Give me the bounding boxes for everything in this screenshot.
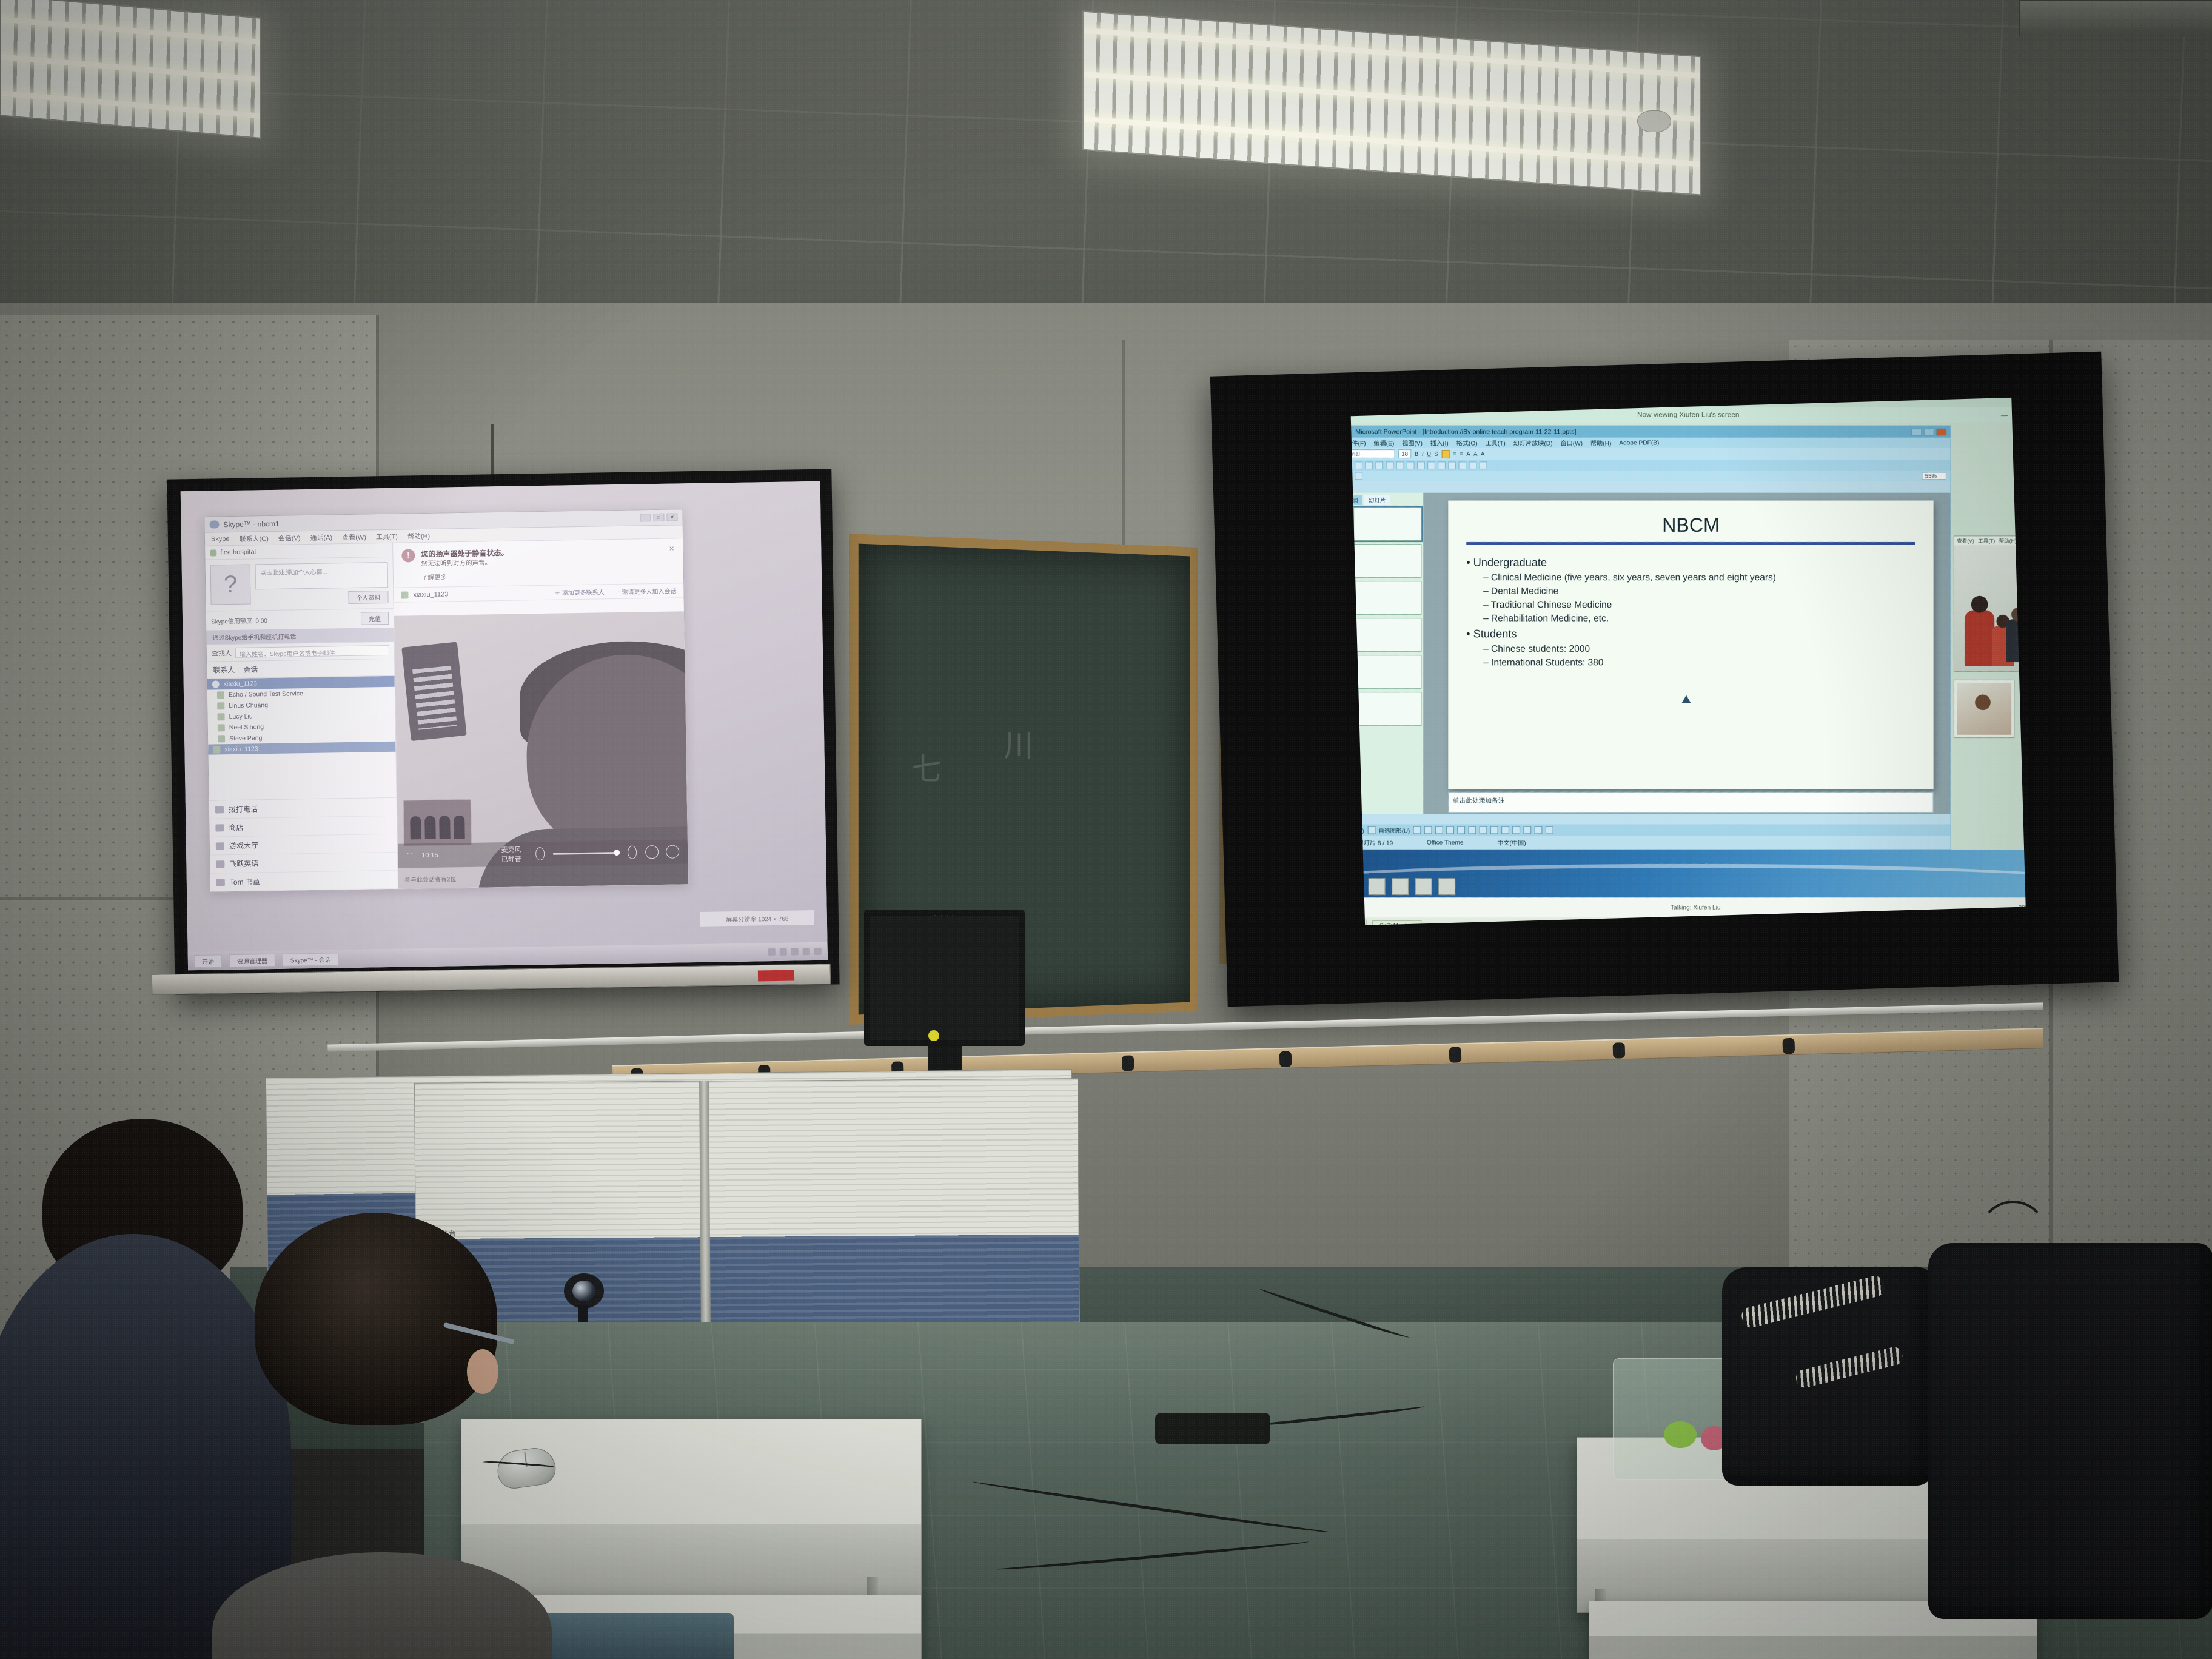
shadow-button[interactable]: S [1434,451,1438,457]
powerpoint-statusbar: 幻灯片 8 / 19 Office Theme 中文(中国) [1351,836,1951,849]
mood-area: 点击此处,添加个人心情... 个人资料 [255,562,389,605]
desktop-icon-media[interactable] [1438,878,1455,895]
rail-hook[interactable] [1782,1038,1795,1054]
spell-icon[interactable] [1396,461,1404,469]
skype-contact-list[interactable]: xiaxiu_1123 Echo / Sound Test Service Li… [207,676,397,800]
video-icon[interactable] [645,845,659,859]
endcall-icon[interactable] [666,845,679,858]
slide-bullet: Undergraduate [1466,557,1915,569]
garment-stripe [1740,1274,1886,1329]
garment-stripe [1794,1346,1905,1390]
menu-conversation[interactable]: 会话(V) [278,533,301,543]
call-control-bar[interactable]: ⌒ 10:15 麦克风已静音 [398,839,688,868]
tray-icon[interactable] [2007,922,2014,925]
slide-thumbnail[interactable]: 13 [1351,692,1422,726]
remote-video-feed-main[interactable]: 查看(V) 工具(T) 帮助(H) [1954,535,2026,672]
viewer-zoom-level[interactable]: 80% [2019,904,2026,911]
dialpad-icon [215,806,224,813]
contact-name: Linus Chuang [229,702,268,709]
font-color-button[interactable]: A [1481,451,1484,457]
align-left-button[interactable]: ≡ [1453,451,1456,457]
slide-thumbnail[interactable]: 11 [1351,618,1422,652]
sidebar-item-label: 拨打电话 [229,803,258,814]
chalk-mark: 川 [1004,720,1033,765]
presence-icon[interactable] [210,549,216,556]
slide-bullet: Traditional Chinese Medicine [1483,600,1915,610]
menu-call[interactable]: 通话(A) [310,532,332,543]
projection-screen-right-frame: GoToMeeting Viewer Now viewing Xiufen Li… [1210,352,2119,1007]
powerpoint-menubar[interactable]: 文件(F) 编辑(E) 视图(V) 插入(I) 格式(O) 工具(T) 幻灯片放… [1351,438,1951,448]
taskbar-item-skype[interactable]: Skype™ - 会话 [283,953,339,966]
mute-icon[interactable] [535,847,545,860]
menu-tools[interactable]: 工具(T) [1485,438,1505,447]
call-timer: 10:15 [421,852,438,859]
powerpoint-view-toolbar[interactable]: 55% [1351,471,1951,481]
student-hair [255,1213,497,1425]
start-button[interactable]: 开始 [194,954,222,968]
minimize-icon[interactable]: — [640,514,651,521]
tab-contacts[interactable]: 联系人 [213,665,235,675]
video-feed-header: 查看(V) 工具(T) 帮助(H) [1954,536,2026,545]
teacher-monitor[interactable]: acer [864,910,1025,1046]
conversation-actions[interactable]: ＋ 添加更多联系人 ＋ 邀请更多人加入会话 [554,586,677,597]
tab-conversations[interactable]: 会话 [243,664,258,674]
video-feed-image [1957,683,2011,735]
font-grow-button[interactable]: A [1466,451,1470,457]
diagram-icon[interactable] [1480,826,1487,834]
chalk-mark: 七 [911,744,942,789]
skype-window-buttons[interactable]: — □ ✕ [640,513,677,521]
credit-label: Skype信用额度: 0.00 [211,615,267,625]
print-icon[interactable] [1375,461,1383,469]
mouse-cursor-icon [1682,695,1691,703]
menu-view[interactable]: 查看(W) [342,532,366,542]
contact-avatar [213,746,220,753]
system-tray[interactable] [768,948,822,956]
contact-name: Steve Peng [229,734,262,742]
contact-name: xiaxiu_1123 [224,745,258,753]
ceiling-light-left [0,0,261,139]
citrix-footer: citrix Talking: Xiufen Liu 80% [1351,897,2026,917]
minimize-icon[interactable] [1911,428,1922,435]
speaker-muted-alert: ! 您的扬声器处于静音状态。 您无法听到对方的声音。 ✕ [393,538,683,572]
screen-brand-label [758,970,794,982]
align-center-button[interactable]: ≡ [1460,451,1463,457]
new-icon[interactable] [1351,461,1352,469]
sidebar-item-english[interactable]: 飞跃英语 [210,853,397,874]
close-icon[interactable] [1936,428,1946,435]
tray-icon[interactable] [791,948,799,955]
add-contact-button[interactable]: ＋ 添加更多联系人 [554,587,605,597]
ceiling-duct [2019,0,2212,36]
skype-credit-row: Skype信用额度: 0.00 充值 [206,608,394,631]
slide-thumbnail[interactable]: 8 [1351,507,1422,541]
font-name-select[interactable]: Arial [1351,449,1395,458]
tab-outline[interactable]: 大纲 [1351,495,1362,505]
slide-thumbnail[interactable]: 10 [1351,581,1422,615]
contact-avatar [401,591,408,598]
contact-name: Echo / Sound Test Service [229,690,303,699]
fill-color-icon[interactable] [1501,826,1509,834]
thumbnail-page[interactable] [1353,507,1421,541]
powerpoint-icon [1351,428,1352,435]
rail-hook[interactable] [1279,1051,1292,1068]
skype-window-title: Skype™ - nbcm1 [223,519,279,528]
slide-bullet: Rehabilitation Medicine, etc. [1483,614,1915,624]
close-icon[interactable]: ✕ [666,513,677,521]
hangup-icon[interactable]: ⌒ [406,851,413,860]
slide-title-rule [1466,542,1915,545]
remote-video-feed-secondary[interactable] [1954,680,2015,738]
call-participants-caption: 参与此会话者有2位 [404,874,457,883]
skype-account-name: first hospital [220,548,256,556]
topup-button[interactable]: 充值 [361,612,389,625]
active-call-name: xiaxiu_1123 [224,680,257,688]
rail-hook[interactable] [1122,1055,1134,1071]
smoke-detector-icon [1637,110,1671,132]
remote-taskbar[interactable]: 开始 GoToMeeting [1351,917,2026,925]
ellipse-icon[interactable] [1446,826,1454,834]
now-viewing-bar: Now viewing Xiufen Liu's screen — □ ✕ [1351,407,2026,423]
call-icon [212,680,220,688]
menu-help[interactable]: 帮助(H) [1590,438,1611,447]
remote-participant [1965,610,1994,666]
menu-slideshow[interactable]: 幻灯片放映(D) [1513,438,1553,447]
contact-avatar [217,713,224,720]
now-viewing-label: Now viewing Xiufen Liu's screen [1637,411,1739,419]
powerpoint-titlebar: Microsoft PowerPoint - [Introduction /iB… [1351,426,1951,437]
maximize-icon[interactable]: □ [653,514,664,521]
drawing-toolbar[interactable]: 绘图(R) 自选图形(U) [1351,824,1951,836]
sidebar-item-tom[interactable]: Tom 书童 [210,871,398,892]
status-design: Office Theme [1410,839,1480,846]
font-size-select[interactable]: 18 [1398,449,1411,458]
tray-icon[interactable] [814,948,822,955]
thumbnail-tabs[interactable]: 大纲 幻灯片 [1351,495,1422,505]
copy-icon[interactable] [1417,461,1425,469]
powerpoint-workspace: 大纲 幻灯片 8 [1351,493,1951,814]
projection-screen-left-frame: Skype™ - nbcm1 — □ ✕ Skype 联系人(C) 会话(V) … [167,469,839,994]
slide-bullet: Dental Medicine [1483,586,1915,597]
gotomeeting-titlebar: GoToMeeting Viewer [1351,398,2026,407]
contact-avatar [217,702,224,709]
paste-icon[interactable] [1427,461,1435,469]
search-input[interactable]: 输入姓名、Skype用户名或电子邮件 [235,645,389,658]
start-button[interactable]: 开始 [1351,919,1367,925]
current-slide[interactable]: NBCM Undergraduate Clinical Medicine (fi… [1448,501,1933,789]
desktop-icon-doc[interactable] [1392,878,1409,895]
skype-profile-block: ? 点击此处,添加个人心情... 个人资料 [205,557,393,611]
student-ear [467,1349,498,1394]
system-tray[interactable] [1997,922,2026,925]
cable-coil [1155,1413,1270,1444]
textbox-icon[interactable] [1457,826,1465,834]
video-call-area[interactable]: ⌒ 10:15 麦克风已静音 [394,611,688,888]
monitor-power-led[interactable] [928,1030,939,1041]
remote-desktop-wallpaper [1351,850,2026,897]
bold-button[interactable]: B [1415,451,1419,457]
line-color-icon[interactable] [1512,826,1520,834]
powerpoint-standard-toolbar[interactable] [1351,460,1951,471]
tray-icon[interactable] [1997,922,2004,925]
view-sorter-icon[interactable] [1355,472,1362,480]
status-language: 中文(中国) [1480,838,1543,847]
desk-phone-in-video [401,642,466,741]
contact-avatar [217,691,224,699]
line-icon[interactable] [1413,826,1421,834]
projection-screen-right[interactable]: GoToMeeting Viewer Now viewing Xiufen Li… [1351,398,2026,925]
underline-button[interactable]: U [1427,451,1431,457]
save-icon[interactable] [1365,461,1373,469]
powerpoint-formatting-toolbar[interactable]: Arial 18 B I U S ≡ ≡ A A A [1351,448,1951,460]
slide-bullet: Clinical Medicine (five years, six years… [1483,572,1915,583]
menu-help[interactable]: 帮助(H) [407,531,431,541]
contact-avatar [218,735,225,742]
self-view-thumbnail[interactable] [403,799,472,846]
video-feed-image [1954,545,2026,671]
menu-window[interactable]: 窗口(W) [1560,438,1583,447]
alert-close-icon[interactable]: ✕ [669,545,675,565]
slide-bullet-list: Undergraduate Clinical Medicine (five ye… [1466,557,1915,668]
wordart-icon[interactable] [1468,826,1476,834]
preview-icon[interactable] [1386,461,1394,469]
profile-button[interactable]: 个人资料 [348,591,388,604]
contact-avatar [218,724,225,731]
desktop-icon-folder[interactable] [1369,878,1386,895]
tray-icon[interactable] [780,948,787,956]
skype-conversation-pane: ! 您的扬声器处于静音状态。 您无法听到对方的声音。 ✕ 了解更多 xia [393,538,688,888]
font-color-icon[interactable] [1523,826,1531,834]
settings-icon[interactable] [628,846,637,859]
clipart-icon[interactable] [1490,826,1498,834]
contact-name: Neel Sihong [229,723,264,731]
powerpoint-window: Microsoft PowerPoint - [Introduction /iB… [1351,425,1951,850]
menu-view[interactable]: 视图(V) [1402,438,1423,447]
thumbnail-page[interactable] [1353,618,1421,652]
skype-nav-list[interactable]: 拨打电话 商店 游戏大厅 [209,797,398,892]
warning-icon: ! [401,549,415,562]
maximize-icon[interactable] [1924,428,1934,435]
alert-subtitle: 您无法听到对方的声音。 [421,559,492,568]
zoom-select[interactable]: 55% [1922,472,1946,480]
contact-name: Lucy Liu [229,712,252,720]
3d-style-icon[interactable] [1546,826,1553,834]
slide-bullet: International Students: 380 [1483,657,1915,668]
status-slide-number: 幻灯片 8 / 19 [1351,838,1410,847]
shadow-style-icon[interactable] [1535,826,1543,834]
highlight-button[interactable] [1441,450,1450,458]
skype-window[interactable]: Skype™ - nbcm1 — □ ✕ Skype 联系人(C) 会话(V) … [204,509,689,892]
slide-bullet: Students [1466,628,1915,640]
video-menu-help[interactable]: 帮助(H) [1999,537,2017,545]
taskbar-item-explorer[interactable]: 资源管理器 [229,953,275,967]
slide-thumbnail[interactable]: 12 [1351,655,1422,689]
invite-people-button[interactable]: ＋ 邀请更多人加入会话 [614,586,676,596]
tray-icon[interactable] [768,948,776,956]
desktop-icon-app[interactable] [1415,878,1432,895]
desktop-icons[interactable] [1351,878,1455,895]
slide-title: NBCM [1466,515,1915,537]
volume-slider[interactable] [553,852,619,855]
sidebar-item-store[interactable]: 商店 [209,816,397,837]
screen-hanger [491,424,494,479]
tray-icon[interactable] [803,948,810,955]
slide-thumbnail[interactable]: 9 [1351,544,1422,578]
alert-title: 您的扬声器处于静音状态。 [421,549,508,558]
avatar[interactable]: ? [210,565,251,605]
folded-garment[interactable] [1722,1267,1934,1486]
store-icon [215,824,224,831]
menu-tools[interactable]: 工具(T) [376,531,398,541]
thumbnail-page[interactable] [1353,544,1421,578]
powerpoint-title: Microsoft PowerPoint - [Introduction /iB… [1355,428,1576,435]
conversation-contact-name: xiaxiu_1123 [413,591,448,598]
student-seated-center [182,1213,558,1659]
sidebar-item-label: 飞跃英语 [229,858,258,869]
rail-hook[interactable] [1613,1042,1626,1059]
tom-icon [216,879,225,886]
call-right-controls[interactable] [645,845,679,859]
cut-icon[interactable] [1407,461,1415,469]
mic-status-label: 麦克风已静音 [501,844,527,864]
select-icon[interactable] [1367,826,1375,834]
rail-hook[interactable] [1449,1047,1462,1063]
gotomeeting-title: GoToMeeting Viewer [1355,398,1427,403]
window-controls[interactable]: — □ ✕ [2001,411,2026,419]
menu-edit[interactable]: 编辑(E) [1373,438,1394,447]
tray-icon[interactable] [2017,922,2023,925]
monitor-bezel [870,916,1019,1040]
talking-indicator: Talking: Xiufen Liu [1671,904,1721,911]
menu-format[interactable]: 格式(O) [1456,438,1478,447]
picture-icon[interactable] [1480,461,1487,469]
remote-participant [2006,619,2026,662]
table-icon[interactable] [1458,461,1466,469]
search-label: 查找人 [212,648,232,659]
thumbnail-page[interactable] [1353,581,1421,615]
student-shirt [212,1552,552,1659]
powerpoint-window-buttons[interactable] [1911,428,1946,435]
video-menu-view[interactable]: 查看(V) [1957,537,1974,545]
slide-editing-area[interactable]: NBCM Undergraduate Clinical Medicine (fi… [1424,493,1951,814]
menu-insert[interactable]: 插入(I) [1430,438,1449,447]
redo-icon[interactable] [1448,461,1456,469]
sidebar-item-label: 商店 [229,822,243,833]
slide-notes-pane[interactable]: 单击此处添加备注 [1448,792,1933,813]
projected-desktop: Skype™ - nbcm1 — □ ✕ Skype 联系人(C) 会话(V) … [181,481,828,970]
slide-bullet: Chinese students: 2000 [1483,644,1915,654]
desktop-resolution-note: 屏幕分辨率 1024 × 768 [700,910,815,927]
arrow-icon[interactable] [1424,826,1432,834]
desktop-icon-browser[interactable] [1351,878,1362,895]
thumbnail-page[interactable] [1353,655,1421,689]
mood-message-input[interactable]: 点击此处,添加个人心情... [255,562,389,589]
taskbar-item-gotomeeting[interactable]: GoToMeeting [1372,920,1421,925]
projection-screen-left[interactable]: Skype™ - nbcm1 — □ ✕ Skype 联系人(C) 会话(V) … [181,481,828,970]
draw-menu[interactable]: 绘图(R) [1351,826,1364,834]
webcam-lens-icon [572,1281,595,1301]
open-icon[interactable] [1355,461,1362,469]
italic-button[interactable]: I [1422,451,1424,457]
sidebar-item-games[interactable]: 游戏大厅 [210,834,397,856]
menu-contacts[interactable]: 联系人(C) [239,534,269,544]
slide-thumbnail-panel[interactable]: 大纲 幻灯片 8 [1351,493,1424,814]
view-normal-icon[interactable] [1351,472,1352,480]
thumbnail-page[interactable] [1353,692,1421,726]
sidebar-item-label: Tom 书童 [230,876,260,887]
skype-logo-icon [209,520,219,528]
font-shrink-button[interactable]: A [1473,451,1477,457]
skype-sidebar: first hospital ? 点击此处,添加个人心情... 个人资料 S [205,543,398,892]
undo-icon[interactable] [1438,461,1446,469]
citrix-logo: citrix [1351,903,1361,912]
games-icon [216,842,224,850]
autoshapes-menu[interactable]: 自选图形(U) [1378,826,1410,834]
sidebar-item-dial[interactable]: 拨打电话 [209,798,397,819]
english-icon [216,860,224,868]
gotomeeting-side-panel: 查看(V) 工具(T) 帮助(H) [1954,425,2026,850]
video-menu-tools[interactable]: 工具(T) [1978,537,1995,545]
menu-adobe-pdf[interactable]: Adobe PDF(B) [1619,439,1659,446]
classroom-scene: 七 川 GoToMeeting Viewer Now viewing Xiufe… [0,0,2212,1659]
list-item-selected[interactable]: xiaxiu_1123 [208,742,395,755]
sidebar-item-label: 游戏大厅 [229,840,258,851]
chart-icon[interactable] [1469,461,1477,469]
tab-slides[interactable]: 幻灯片 [1364,495,1390,505]
skype-body: first hospital ? 点击此处,添加个人心情... 个人资料 S [205,538,688,891]
backpack[interactable] [1928,1243,2212,1619]
rectangle-icon[interactable] [1435,826,1443,834]
menu-file[interactable]: 文件(F) [1351,438,1366,447]
menu-skype[interactable]: Skype [211,535,230,543]
gotomeeting-viewer: GoToMeeting Viewer Now viewing Xiufen Li… [1351,398,2026,925]
